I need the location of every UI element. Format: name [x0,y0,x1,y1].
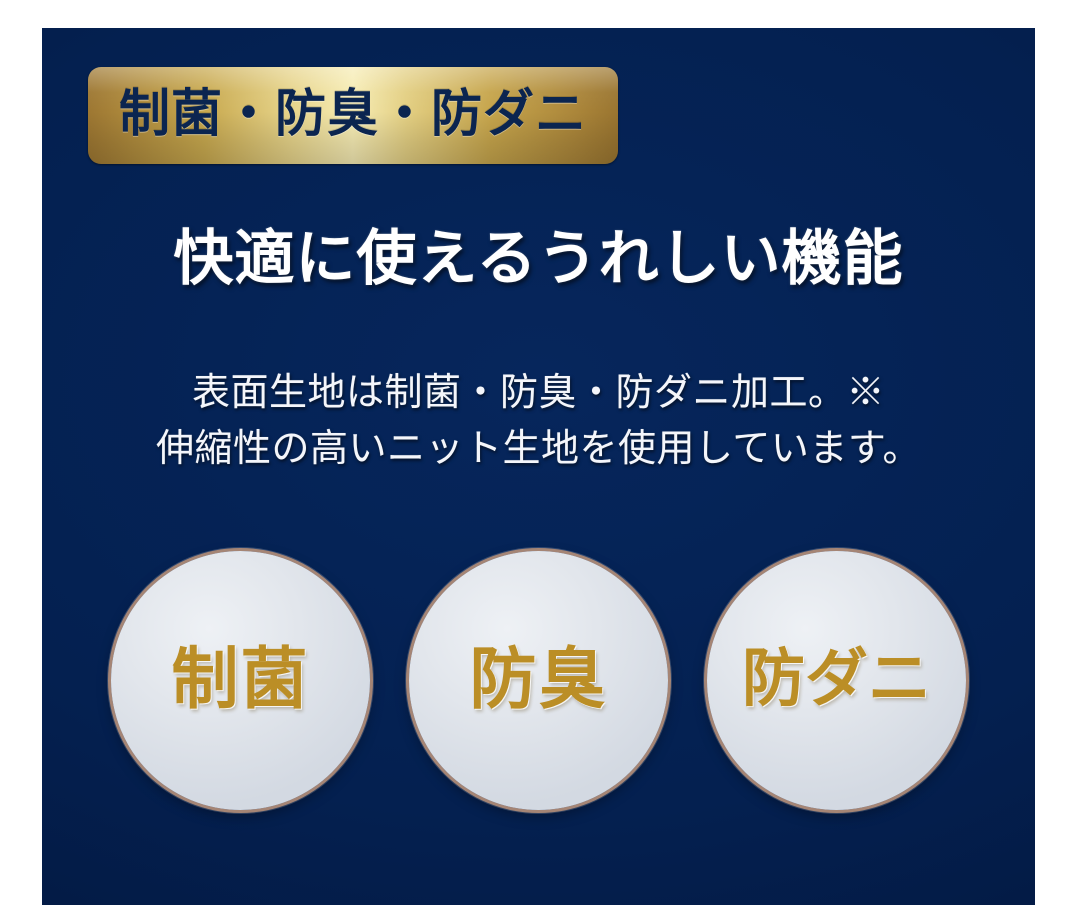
description-line-2: 伸縮性の高いニット生地を使用しています。 [42,420,1035,476]
feature-circle-antibacterial: 制菌 [111,551,370,810]
feature-badge: 制菌・防臭・防ダニ [88,67,618,164]
feature-circle-deodorant: 防臭 [409,551,668,810]
promo-graphic: 制菌・防臭・防ダニ 快適に使えるうれしい機能 表面生地は制菌・防臭・防ダニ加工。… [0,0,1080,905]
feature-circle-list: 制菌 防臭 防ダニ [42,549,1035,811]
description-text: 表面生地は制菌・防臭・防ダニ加工。※ 伸縮性の高いニット生地を使用しています。 [42,364,1035,476]
feature-circle-label: 防ダニ [742,647,931,710]
description-line-1: 表面生地は制菌・防臭・防ダニ加工。※ [42,364,1035,420]
feature-circle-label: 防臭 [470,645,608,712]
navy-panel: 制菌・防臭・防ダニ 快適に使えるうれしい機能 表面生地は制菌・防臭・防ダニ加工。… [42,28,1035,905]
feature-badge-label: 制菌・防臭・防ダニ [119,89,587,140]
feature-circle-label: 制菌 [172,645,310,712]
page-title: 快適に使えるうれしい機能 [42,224,1035,295]
feature-circle-anti-mite: 防ダニ [707,551,966,810]
